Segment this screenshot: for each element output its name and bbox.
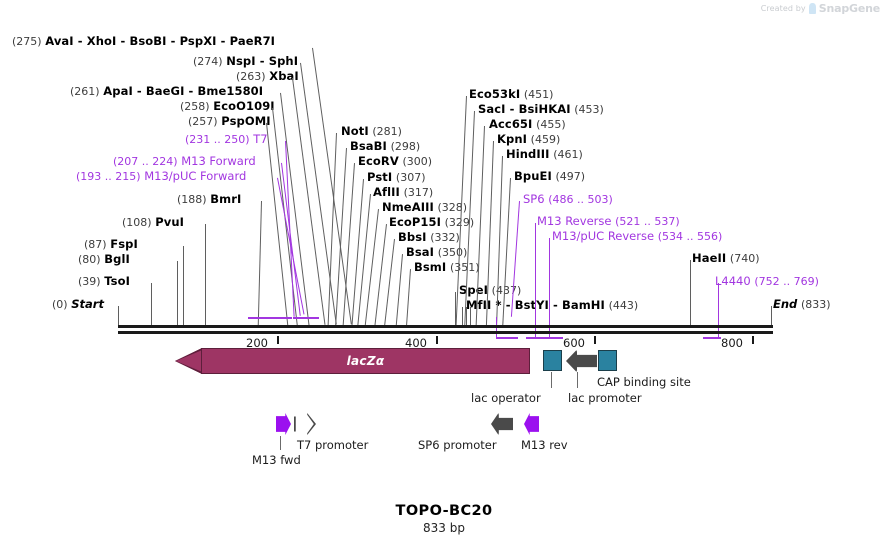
leader-line-443c [470,307,471,327]
primer-label-m13-reverse[interactable]: M13 Reverse (521 .. 537) [537,215,680,228]
primer-foot-m13puc-forward [248,317,277,319]
enzyme-label-80[interactable]: (80) BglI [78,253,130,266]
sp6-promoter-arrow-outline [491,413,513,435]
ruler-tick-400 [436,336,438,344]
lacza-arrowhead [175,348,202,374]
leader-line-start [118,306,119,325]
leader-line-740 [690,260,691,327]
annotation-label-m13-rev: M13 rev [521,438,568,452]
ruler-tick-800 [752,336,754,344]
feature-lac-operator[interactable] [543,350,562,371]
feature-lacza[interactable]: lacZα [175,348,530,374]
enzyme-label-740[interactable]: HaeII (740) [692,252,760,265]
feature-label-cap-binding-site: CAP binding site [597,375,691,389]
enzyme-label-300[interactable]: EcoRV (300) [358,155,432,168]
enzyme-label-108[interactable]: (108) PvuI [122,216,184,229]
annotation-label-t7-promoter: T7 promoter [297,438,368,452]
connector-m13-fwd [280,436,281,450]
t7-promoter-arrow-fill [294,413,316,435]
lacza-label: lacZα [201,348,530,374]
leader-line-188 [258,201,262,325]
enzyme-label-351[interactable]: BsmI (351) [414,261,480,274]
annotation-sp6-promoter-arrow[interactable] [491,413,513,435]
primer-label-m13puc-forward[interactable]: (193 .. 215) M13/pUC Forward [76,170,246,183]
enzyme-label-497[interactable]: BpuEI (497) [514,170,585,183]
leader-line-end [771,306,772,325]
annotation-m13-fwd-arrow[interactable] [276,413,291,435]
primer-leader-m13puc-reverse [549,238,550,337]
enzyme-label-461[interactable]: HindIII (461) [506,148,583,161]
annotation-label-m13-fwd: M13 fwd [252,453,301,467]
primer-foot-m13puc-reverse [541,337,563,339]
leader-line-87 [183,246,184,325]
leader-line-351 [406,269,411,327]
leader-line-307 [351,179,364,327]
primer-foot-l4440 [703,337,721,339]
backbone-line-bottom [118,331,773,334]
enzyme-label-261[interactable]: (261) ApaI - BaeGI - Bme1580I [70,85,263,98]
plasmid-title: TOPO-BC20 [0,503,888,519]
enzyme-label-328[interactable]: NmeAIII (328) [382,201,467,214]
enzyme-label-451[interactable]: Eco53kI (451) [469,88,553,101]
lac-promoter-outline [566,350,597,372]
primer-foot-sp6 [496,337,518,339]
feature-label-lac-promoter: lac promoter [568,391,642,405]
plasmid-map-canvas: Created by SnapGene (275) AvaI - XhoI - … [0,0,888,542]
primer-label-sp6[interactable]: SP6 (486 .. 503) [523,193,613,206]
connector-lac-promoter [577,372,578,388]
terminus-label-start[interactable]: (0) Start [52,298,104,311]
primer-leader-m13-reverse [535,223,536,337]
enzyme-label-275[interactable]: (275) AvaI - XhoI - BsoBI - PspXI - PaeR… [12,35,275,48]
enzyme-label-459[interactable]: KpnI (459) [497,133,560,146]
enzyme-label-298[interactable]: BsaBI (298) [350,140,420,153]
leader-line-443b [466,307,467,327]
ruler-label-600: 600 [563,336,585,350]
connector-lac-operator [551,372,552,388]
enzyme-label-443[interactable]: MfII * - BstYI - BamHI (443) [466,299,638,312]
enzyme-label-307[interactable]: PstI (307) [367,171,426,184]
leader-line-332 [384,239,395,327]
annotation-label-sp6-promoter: SP6 promoter [418,438,497,452]
primer-leader-l4440 [718,283,719,337]
primer-label-m13puc-reverse[interactable]: M13/pUC Reverse (534 .. 556) [552,230,722,243]
enzyme-label-453[interactable]: SacI - BsiHKAI (453) [478,103,604,116]
enzyme-label-317[interactable]: AflII (317) [373,186,433,199]
primer-leader-m13puc-forward [277,178,305,315]
enzyme-label-258[interactable]: (258) EcoO109I [180,100,275,113]
enzyme-label-332[interactable]: BbsI (332) [398,231,460,244]
annotation-m13-rev-arrow[interactable] [524,413,539,435]
m13-fwd-arrow-fill [276,413,291,435]
ruler-tick-600 [594,336,596,344]
leader-line-80 [177,261,178,325]
snapgene-logo-icon [809,3,816,14]
annotation-t7-promoter-arrow[interactable] [294,413,316,435]
leader-line-350 [396,254,403,327]
plasmid-length: 833 bp [0,521,888,535]
primer-label-t7[interactable]: (231 .. 250) T7 [185,133,268,146]
enzyme-label-257[interactable]: (257) PspOMI [188,115,271,128]
watermark-prefix: Created by [761,4,806,13]
enzyme-label-263[interactable]: (263) XbaI [236,70,299,83]
leader-line-108 [205,224,206,325]
ruler-label-800: 800 [721,336,743,350]
primer-foot-t7 [293,317,319,319]
watermark-brand: SnapGene [819,2,880,15]
leader-line-39 [151,283,152,325]
enzyme-label-281[interactable]: NotI (281) [341,125,402,138]
enzyme-label-39[interactable]: (39) TsoI [78,275,130,288]
enzyme-label-87[interactable]: (87) FspI [84,238,138,251]
enzyme-label-274[interactable]: (274) NspI - SphI [193,55,298,68]
feature-cap-binding-site[interactable] [598,350,617,371]
primer-label-m13-forward[interactable]: (207 .. 224) M13 Forward [113,155,256,168]
feature-label-lac-operator: lac operator [471,391,541,405]
m13-rev-arrow-fill [524,413,539,435]
leader-line-443a [462,307,463,327]
enzyme-label-455[interactable]: Acc65I (455) [489,118,566,131]
terminus-label-end[interactable]: End (833) [773,298,831,311]
feature-lac-promoter[interactable] [566,350,597,372]
ruler-tick-200 [277,336,279,344]
snapgene-watermark: Created by SnapGene [761,2,880,15]
backbone-line-top [118,325,773,328]
enzyme-label-188[interactable]: (188) BmrI [177,193,241,206]
primer-label-l4440[interactable]: L4440 (752 .. 769) [715,275,819,288]
